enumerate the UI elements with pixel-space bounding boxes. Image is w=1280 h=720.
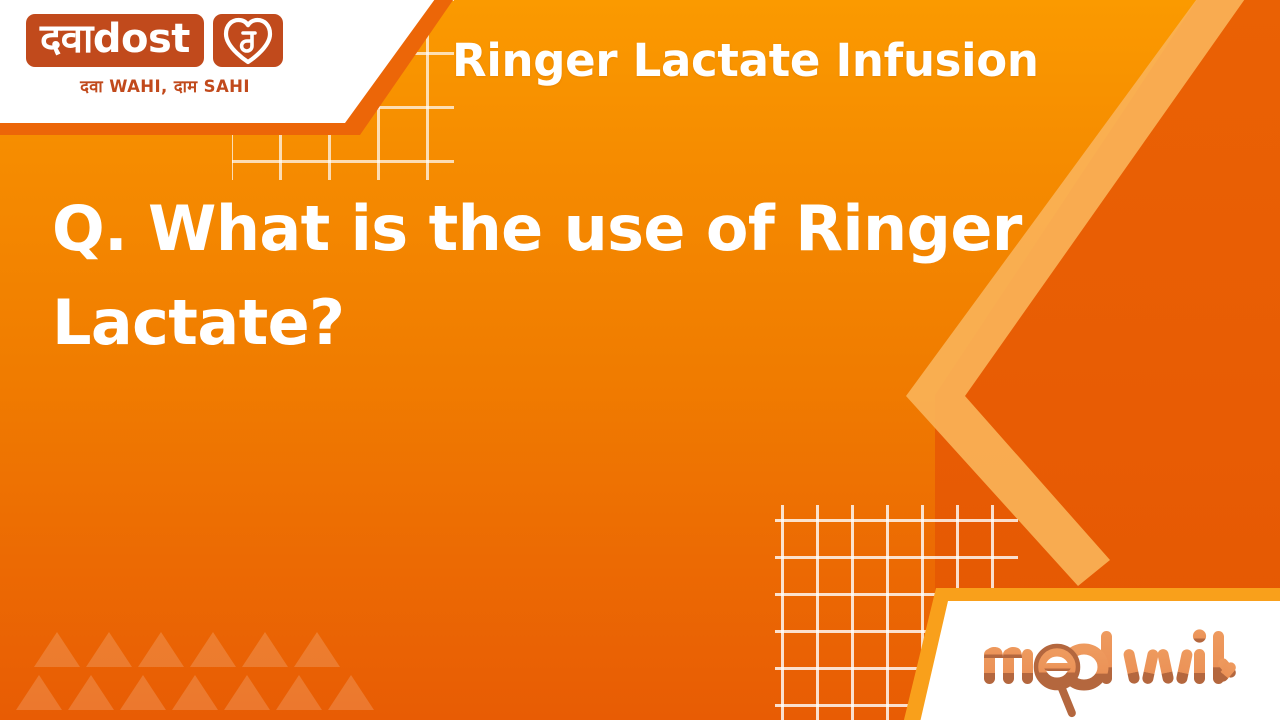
triangle-pattern-icon — [34, 632, 380, 710]
triangle-icon — [276, 675, 322, 710]
brand-wordmark: दवाdost — [26, 14, 204, 67]
brand-tagline: दवा WAHI, दाम SAHI — [26, 74, 304, 97]
triangle-icon — [224, 675, 270, 710]
triangle-icon — [68, 675, 114, 710]
question-text: Q. What is the use of Ringer Lactate? — [52, 182, 1162, 370]
triangle-icon — [86, 632, 132, 667]
slide-canvas: दवाdost दवा WAHI, दाम SAHI Ringer Lactat… — [0, 0, 1280, 720]
page-title: Ringer Lactate Infusion — [452, 34, 1039, 87]
triangle-row — [34, 632, 380, 667]
brand-logo[interactable]: दवाdost दवा WAHI, दाम SAHI — [26, 14, 304, 97]
triangle-icon — [172, 675, 218, 710]
brand-word-sub: dost — [93, 18, 190, 60]
heart-with-devanagari-da-icon — [213, 14, 283, 67]
brand-logo-row: दवाdost — [26, 14, 304, 67]
triangle-icon — [34, 632, 80, 667]
triangle-row — [16, 675, 380, 710]
brand-word-main: दवा — [40, 18, 93, 60]
triangle-icon — [138, 632, 184, 667]
medwiki-logo[interactable] — [978, 627, 1238, 697]
triangle-icon — [242, 632, 288, 667]
triangle-icon — [120, 675, 166, 710]
triangle-icon — [328, 675, 374, 710]
triangle-icon — [16, 675, 62, 710]
triangle-icon — [294, 632, 340, 667]
triangle-icon — [190, 632, 236, 667]
